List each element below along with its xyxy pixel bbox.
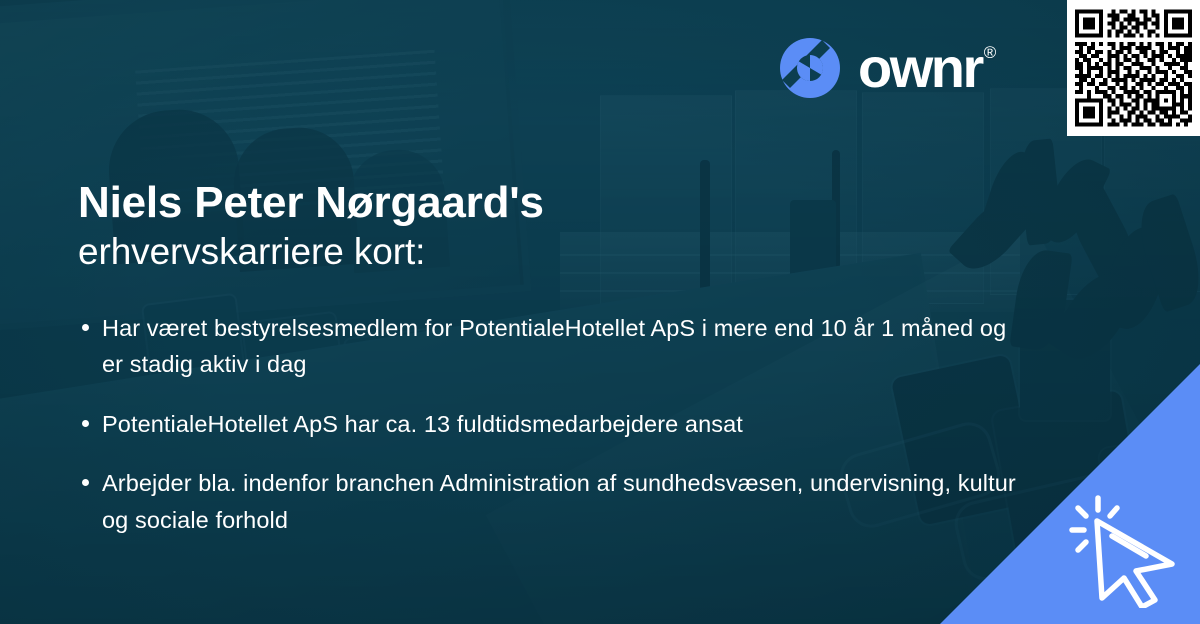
brand-lockup: ownr® xyxy=(778,36,996,100)
registered-trademark-symbol: ® xyxy=(984,43,997,62)
headline-line-2: erhvervskarriere kort: xyxy=(78,229,978,275)
qr-code-icon[interactable] xyxy=(1067,0,1200,136)
list-item-text: PotentialeHotellet ApS har ca. 13 fuldti… xyxy=(102,411,743,437)
list-item: Arbejder bla. indenfor branchen Administ… xyxy=(78,465,1018,538)
list-item-text: Arbejder bla. indenfor branchen Administ… xyxy=(102,470,1016,532)
headline-line-1: Niels Peter Nørgaard's xyxy=(78,177,978,229)
list-item: Har været bestyrelsesmedlem for Potentia… xyxy=(78,310,1018,383)
fact-list: Har været bestyrelsesmedlem for Potentia… xyxy=(78,310,1018,538)
bullet-dot-icon xyxy=(82,479,89,486)
bullet-dot-icon xyxy=(82,324,89,331)
mouse-click-cursor-icon xyxy=(1064,488,1184,608)
page-title: Niels Peter Nørgaard's erhvervskarriere … xyxy=(78,177,978,275)
ownr-circle-swirl-icon xyxy=(778,36,842,100)
business-card-graphic: ownr® xyxy=(0,0,1200,624)
list-item-text: Har været bestyrelsesmedlem for Potentia… xyxy=(102,315,1006,377)
list-item: PotentialeHotellet ApS har ca. 13 fuldti… xyxy=(78,406,1018,442)
bullet-dot-icon xyxy=(82,420,89,427)
brand-wordmark-text: ownr xyxy=(858,36,982,99)
brand-wordmark: ownr® xyxy=(858,40,996,96)
